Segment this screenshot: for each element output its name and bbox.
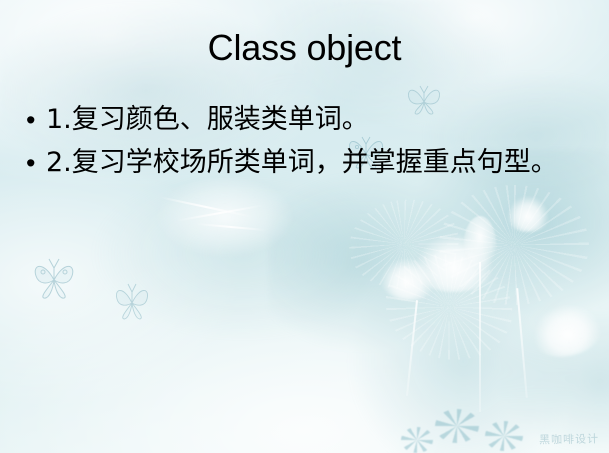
lotus-stem	[479, 262, 481, 412]
lotus-flower-icon	[150, 178, 300, 262]
slide-title: Class object	[0, 26, 609, 70]
lotus-flower-icon	[505, 192, 551, 232]
daisy-flower-icon	[401, 427, 433, 453]
bullet-list-item[interactable]: • 1.复习颜色、服装类单词。	[22, 104, 595, 136]
daisy-flower-icon	[435, 409, 479, 443]
bullet-point-icon: •	[22, 147, 46, 179]
butterfly-icon	[110, 280, 154, 320]
design-watermark: 黑咖啡设计	[539, 430, 599, 447]
bullet-point-icon: •	[22, 104, 46, 136]
bullet-list-item[interactable]: • 2.复习学校场所类单词，并掌握重点句型。	[22, 147, 595, 179]
presentation-slide: Class object • 1.复习颜色、服装类单词。 • 2.复习学校场所类…	[0, 0, 609, 453]
butterfly-icon	[28, 256, 80, 300]
daisy-flower-icon	[485, 421, 523, 451]
bullet-item-label: 1.复习颜色、服装类单词。	[46, 104, 595, 136]
slide-body-content: • 1.复习颜色、服装类单词。 • 2.复习学校场所类单词，并掌握重点句型。	[22, 104, 595, 190]
bullet-item-label: 2.复习学校场所类单词，并掌握重点句型。	[46, 147, 595, 179]
